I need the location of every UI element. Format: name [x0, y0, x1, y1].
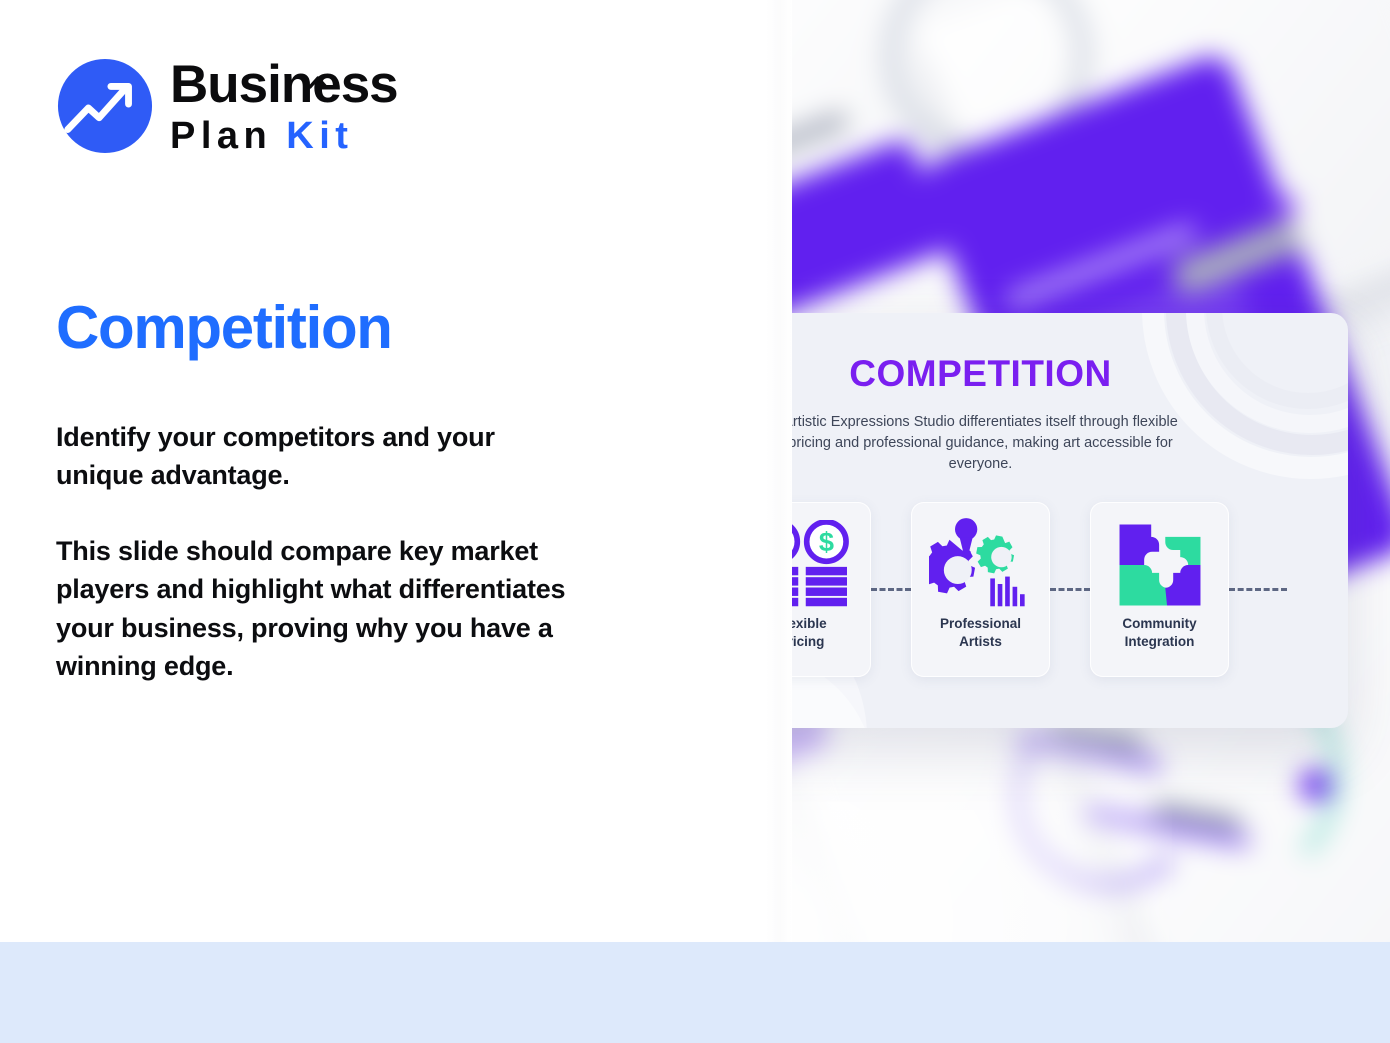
left-content-panel: Business PlanKit Competition Identify yo…: [0, 0, 792, 942]
brand-name-line2: PlanKit: [170, 117, 398, 155]
feature-label-line1: Professional: [940, 616, 1021, 631]
svg-text:$: $: [818, 525, 833, 556]
dashed-connector-middle: [1050, 588, 1090, 591]
slide-preview-page: Business PlanKit Competition Identify yo…: [0, 0, 1390, 1043]
brand-logo[interactable]: Business PlanKit: [56, 56, 398, 155]
feature-label: Community Integration: [1122, 615, 1196, 651]
bg-purple-dot: [1270, 195, 1296, 221]
slide-subtitle: Artistic Expressions Studio differentiat…: [761, 412, 1201, 475]
brand-name-line1: Business: [170, 58, 398, 111]
dashed-connector-right: [1229, 588, 1287, 591]
feature-label-line2: Artists: [959, 634, 1002, 649]
bg-purple-dot: [1300, 770, 1330, 800]
feature-label: Professional Artists: [940, 615, 1021, 651]
feature-card-community-integration[interactable]: Community Integration: [1090, 502, 1229, 677]
brand-kit-text: Kit: [286, 115, 353, 157]
puzzle-pieces-icon: [1116, 518, 1204, 611]
feature-label-line1: Community: [1122, 616, 1196, 631]
page-title: Competition: [56, 296, 392, 359]
brand-business-text: Business: [170, 55, 398, 114]
feature-card-professional-artists[interactable]: Professional Artists: [911, 502, 1050, 677]
brand-plan-text: Plan: [170, 115, 272, 157]
caret-accent-icon: [308, 45, 328, 59]
growth-chart-circle-icon: [56, 57, 154, 155]
lead-paragraph: Identify your competitors and your uniqu…: [56, 418, 576, 495]
feature-label-line2: Integration: [1125, 634, 1195, 649]
bottom-accent-band: [0, 942, 1390, 1043]
gears-lightbulb-chart-icon: [929, 518, 1033, 611]
body-paragraph: This slide should compare key market pla…: [56, 532, 576, 685]
dashed-connector-middle: [871, 588, 911, 591]
